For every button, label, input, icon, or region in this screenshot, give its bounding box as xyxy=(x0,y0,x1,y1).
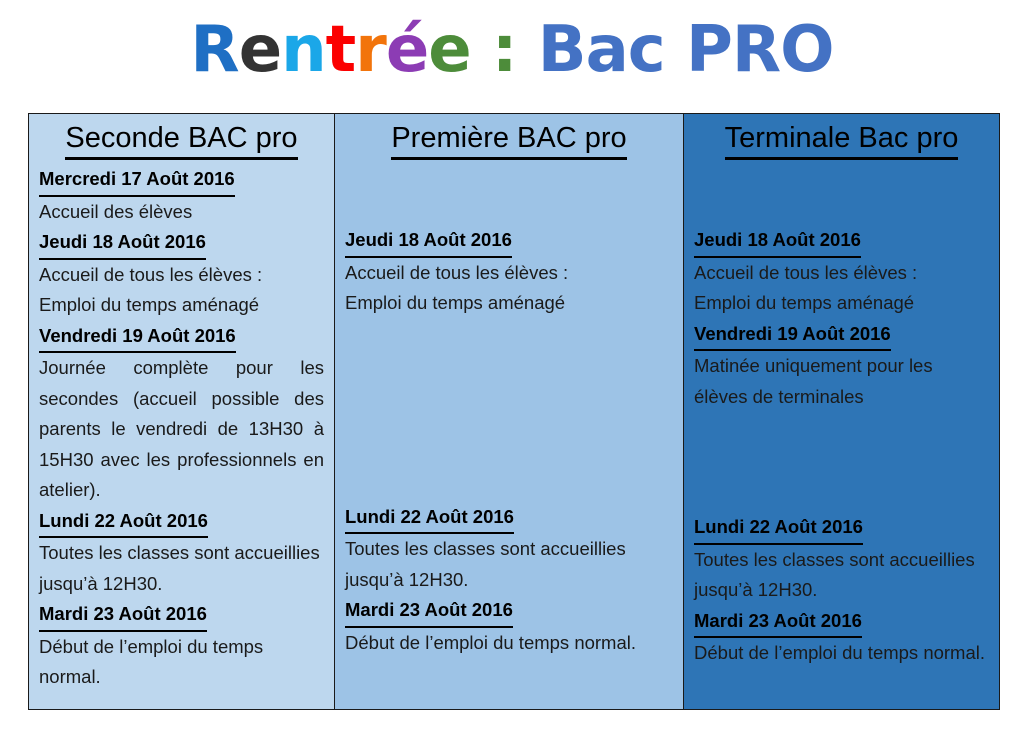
entry-body: Début de l’emploi du temps normal. xyxy=(345,628,673,659)
entry-date: Jeudi 18 Août 2016 xyxy=(694,225,861,258)
schedule-table: Seconde BAC proMercredi 17 Août 2016Accu… xyxy=(28,113,1000,710)
title-letter xyxy=(665,13,686,87)
page-title: Rentrée : Bac PRO xyxy=(190,18,833,82)
schedule-column-terminale: Terminale Bac proJeudi 18 Août 2016Accue… xyxy=(684,114,999,709)
entry-date: Lundi 22 Août 2016 xyxy=(39,506,208,539)
entry-body: Début de l’emploi du temps normal. xyxy=(694,638,989,669)
entry-date: Lundi 22 Août 2016 xyxy=(694,512,863,545)
schedule-entry: Vendredi 19 Août 2016Matinée uniquement … xyxy=(694,319,989,413)
entry-body: Début de l’emploi du temps normal. xyxy=(39,632,324,693)
schedule-column-premiere: Première BAC proJeudi 18 Août 2016Accuei… xyxy=(335,114,684,709)
entry-date-row: Jeudi 18 Août 2016 xyxy=(39,227,324,260)
entry-date-row: Mardi 23 Août 2016 xyxy=(694,606,989,639)
entry-date: Mardi 23 Août 2016 xyxy=(345,595,513,628)
entry-date-row: Lundi 22 Août 2016 xyxy=(694,512,989,545)
column-header-terminale: Terminale Bac pro xyxy=(725,122,959,160)
schedule-entry: Mercredi 17 Août 2016Accueil des élèves xyxy=(39,164,324,227)
title-letter: e xyxy=(428,13,470,87)
title-letter: O xyxy=(780,13,833,87)
entry-date-row: Mardi 23 Août 2016 xyxy=(345,595,673,628)
vertical-spacer xyxy=(694,164,989,225)
entry-body: Accueil de tous les élèves : Emploi du t… xyxy=(694,258,989,319)
entry-body: Toutes les classes sont accueillies jusq… xyxy=(39,538,324,599)
entry-body: Matinée uniquement pour les élèves de te… xyxy=(694,351,989,412)
entry-date-row: Jeudi 18 Août 2016 xyxy=(345,225,673,258)
schedule-entry: Mardi 23 Août 2016Début de l’emploi du t… xyxy=(694,606,989,669)
entry-date: Mardi 23 Août 2016 xyxy=(694,606,862,639)
entry-date-row: Vendredi 19 Août 2016 xyxy=(694,319,989,352)
entry-date-row: Jeudi 18 Août 2016 xyxy=(694,225,989,258)
entry-body: Accueil des élèves xyxy=(39,197,324,228)
schedule-entry: Mardi 23 Août 2016Début de l’emploi du t… xyxy=(345,595,673,658)
title-letter: R xyxy=(732,13,780,87)
title-letter: r xyxy=(355,13,386,87)
schedule-entry: Lundi 22 Août 2016Toutes les classes son… xyxy=(39,506,324,600)
schedule-entry: Lundi 22 Août 2016Toutes les classes son… xyxy=(345,502,673,596)
vertical-spacer xyxy=(694,412,989,512)
entry-date-row: Vendredi 19 Août 2016 xyxy=(39,321,324,354)
column-header-seconde: Seconde BAC pro xyxy=(65,122,297,160)
title-letter xyxy=(517,13,538,87)
schedule-entry: Mardi 23 Août 2016Début de l’emploi du t… xyxy=(39,599,324,693)
entry-body: Journée complète pour les secondes (accu… xyxy=(39,353,324,506)
entry-date: Lundi 22 Août 2016 xyxy=(345,502,514,535)
column-header-premiere: Première BAC pro xyxy=(391,122,626,160)
title-letter: n xyxy=(281,13,326,87)
title-letter: a xyxy=(586,13,628,87)
entry-list: Mercredi 17 Août 2016Accueil des élèvesJ… xyxy=(39,164,324,693)
entry-date-row: Mardi 23 Août 2016 xyxy=(39,599,324,632)
title-letter: e xyxy=(239,13,281,87)
title-letter: P xyxy=(686,13,732,87)
entry-date: Vendredi 19 Août 2016 xyxy=(39,321,236,354)
entry-date: Mardi 23 Août 2016 xyxy=(39,599,207,632)
entry-body: Toutes les classes sont accueillies jusq… xyxy=(694,545,989,606)
title-letter: é xyxy=(386,13,428,87)
page-header: Rentrée : Bac PRO xyxy=(0,0,1024,100)
schedule-entry: Vendredi 19 Août 2016Journée complète po… xyxy=(39,321,324,506)
entry-date: Vendredi 19 Août 2016 xyxy=(694,319,891,352)
title-letter: c xyxy=(628,13,665,87)
title-letter xyxy=(471,13,492,87)
title-letter: R xyxy=(190,13,238,87)
entry-date-row: Mercredi 17 Août 2016 xyxy=(39,164,324,197)
schedule-entry: Jeudi 18 Août 2016Accueil de tous les él… xyxy=(694,225,989,319)
schedule-entry: Lundi 22 Août 2016Toutes les classes son… xyxy=(694,512,989,606)
entry-body: Accueil de tous les élèves : Emploi du t… xyxy=(345,258,673,319)
entry-body: Toutes les classes sont accueillies jusq… xyxy=(345,534,673,595)
entry-body: Accueil de tous les élèves : Emploi du t… xyxy=(39,260,324,321)
entry-list: Jeudi 18 Août 2016Accueil de tous les él… xyxy=(345,164,673,658)
vertical-spacer xyxy=(345,164,673,225)
vertical-spacer xyxy=(345,319,673,502)
entry-list: Jeudi 18 Août 2016Accueil de tous les él… xyxy=(694,164,989,669)
schedule-entry: Jeudi 18 Août 2016Accueil de tous les él… xyxy=(39,227,324,321)
title-letter: : xyxy=(492,13,517,87)
title-letter: B xyxy=(538,13,586,87)
schedule-column-seconde: Seconde BAC proMercredi 17 Août 2016Accu… xyxy=(29,114,335,709)
schedule-entry: Jeudi 18 Août 2016Accueil de tous les él… xyxy=(345,225,673,319)
entry-date: Mercredi 17 Août 2016 xyxy=(39,164,235,197)
title-letter: t xyxy=(326,13,356,87)
entry-date: Jeudi 18 Août 2016 xyxy=(345,225,512,258)
entry-date-row: Lundi 22 Août 2016 xyxy=(39,506,324,539)
entry-date-row: Lundi 22 Août 2016 xyxy=(345,502,673,535)
entry-date: Jeudi 18 Août 2016 xyxy=(39,227,206,260)
